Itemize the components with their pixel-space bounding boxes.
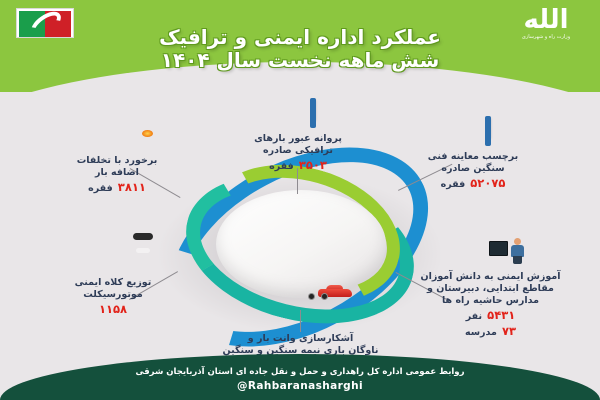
callout-helmet-distribution[interactable]: توزیع کلاه ایمنی موتورسیکلت ۱۱۵۸ — [28, 244, 198, 317]
callout-inspection-value: ۵۲۰۷۵ — [470, 176, 505, 190]
callout-permits[interactable]: پروانه عبور بارهای ترافیکی صادره ۳۵۰۳ فق… — [213, 100, 383, 173]
callout-training-value-line-2: ۷۳ مدرسه — [393, 323, 588, 339]
callout-inspection-unit: فقره — [441, 179, 466, 190]
callout-inspection-value-line: ۵۲۰۷۵ فقره — [388, 175, 558, 191]
callout-inspection-stickers[interactable]: برچسب معاینه فنی سنگین صادره ۵۲۰۷۵ فقره — [388, 118, 558, 191]
car-icon — [284, 300, 318, 330]
callout-training-value-line: ۵۴۳۱ نفر — [393, 307, 588, 323]
callout-student-training[interactable]: آموزش ایمنی به دانش آموزان مقاطع ابتدایی… — [393, 238, 588, 339]
infographic-poster: الله وزارت راه و شهرسازی عملکرد اداره ای… — [0, 0, 600, 400]
callout-permits-value-line: ۳۵۰۳ فقره — [213, 157, 383, 173]
footer-organization: روابط عمومی اداره کل راهداری و حمل و نقل… — [0, 367, 600, 377]
red-folder-icon — [100, 122, 134, 152]
footer-handle[interactable]: @Rahbaranasharghi — [0, 380, 600, 392]
callout-training-label: آموزش ایمنی به دانش آموزان مقاطع ابتدایی… — [393, 271, 588, 307]
callout-training-unit: نفر — [466, 311, 482, 322]
document-icon — [456, 118, 490, 148]
callout-helmet-value: ۱۱۵۸ — [99, 302, 127, 316]
callout-inspection-label: برچسب معاینه فنی سنگین صادره — [388, 151, 558, 175]
callout-helmet-label: توزیع کلاه ایمنی موتورسیکلت — [28, 277, 198, 301]
callout-overload-value: ۳۸۱۱ — [118, 180, 146, 194]
callout-overload-unit: فقره — [88, 183, 113, 194]
helmet-icon — [96, 244, 130, 274]
poster-footer: روابط عمومی اداره کل راهداری و حمل و نقل… — [0, 354, 600, 400]
callout-training-unit-2: مدرسه — [465, 327, 497, 338]
callout-permits-unit: فقره — [269, 161, 294, 172]
page-title: عملکرد اداره ایمنی و ترافیک شش ماهه نخست… — [0, 26, 600, 72]
callout-training-value-2: ۷۳ — [502, 324, 516, 338]
callout-overload-value-line: ۳۸۱۱ فقره — [32, 179, 202, 195]
title-line-1: عملکرد اداره ایمنی و ترافیک — [0, 26, 600, 49]
callout-overload-violations[interactable]: برخورد با تخلفات اضافه بار ۳۸۱۱ فقره — [32, 122, 202, 195]
callout-permits-value: ۳۵۰۳ — [299, 158, 327, 172]
ring-center-disc — [216, 190, 386, 298]
document-icon — [281, 100, 315, 130]
callout-helmet-value-line: ۱۱۵۸ — [28, 301, 198, 317]
teacher-icon — [474, 238, 508, 268]
title-line-2: شش ماهه نخست سال ۱۴۰۴ — [0, 49, 600, 72]
